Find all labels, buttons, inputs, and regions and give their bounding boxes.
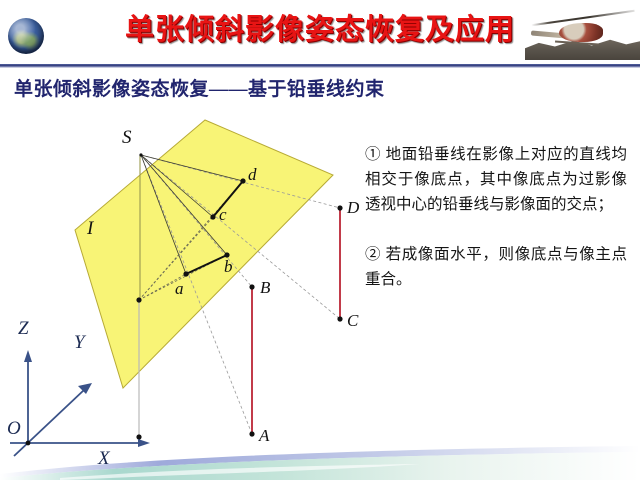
- label-C: C: [347, 311, 358, 331]
- label-D: D: [347, 198, 359, 218]
- point-nadir: [136, 297, 141, 302]
- axis-z-arrow: [24, 350, 32, 362]
- slide-subtitle: 单张倾斜影像姿态恢复——基于铅垂线约束: [14, 74, 385, 101]
- label-d: d: [248, 165, 257, 185]
- label-A: A: [259, 426, 269, 446]
- body-paragraph-2: ② 若成像面水平，则像底点与像主点重合。: [365, 242, 627, 292]
- label-O: O: [7, 418, 21, 440]
- axis-y-arrow: [78, 383, 92, 394]
- point-c: [210, 214, 215, 219]
- label-B: B: [260, 278, 270, 298]
- label-Z: Z: [18, 318, 29, 340]
- point-A: [249, 431, 254, 436]
- earth-curve-svg: [0, 444, 640, 480]
- slide-root: 单张倾斜影像姿态恢复及应用 单张倾斜影像姿态恢复——基于铅垂线约束 ① 地面铅垂…: [0, 0, 640, 480]
- earth-curve-decoration: [0, 444, 640, 480]
- header-banner: 单张倾斜影像姿态恢复及应用: [0, 0, 640, 66]
- image-plane-polygon: [75, 120, 333, 388]
- body-paragraph-1: ① 地面铅垂线在影像上对应的直线均相交于像底点，其中像底点为过影像透视中心的铅垂…: [365, 142, 627, 217]
- point-d: [240, 178, 245, 183]
- helicopter-photo: [525, 2, 640, 60]
- label-c: c: [219, 205, 227, 225]
- helicopter-body: [559, 23, 603, 42]
- header-divider-shadow: [0, 67, 640, 68]
- point-C: [337, 316, 342, 321]
- point-ground-nadir: [136, 434, 141, 439]
- label-b: b: [224, 257, 233, 277]
- label-a: a: [175, 279, 184, 299]
- point-S: [139, 153, 142, 156]
- label-Y: Y: [74, 332, 85, 354]
- label-S: S: [122, 127, 132, 149]
- body-text-block: ① 地面铅垂线在影像上对应的直线均相交于像底点，其中像底点为过影像透视中心的铅垂…: [365, 142, 627, 292]
- perspective-geometry-diagram: S I a b c d A B C D Z Y X O: [0, 100, 360, 460]
- point-a: [183, 271, 188, 276]
- point-B: [249, 284, 254, 289]
- point-D: [337, 205, 342, 210]
- label-I: I: [87, 218, 93, 240]
